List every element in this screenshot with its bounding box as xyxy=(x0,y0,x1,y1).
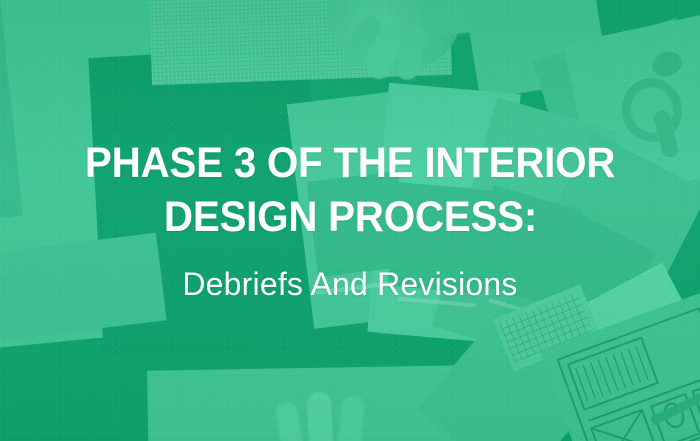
headline-line-2: DESIGN PROCESS: xyxy=(163,191,536,243)
blog-header-banner: PHASE 3 OF THE INTERIOR DESIGN PROCESS: … xyxy=(0,0,700,441)
subheadline: Debriefs And Revisions xyxy=(182,265,517,303)
headline-line-1: PHASE 3 OF THE INTERIOR xyxy=(85,137,615,189)
banner-text-block: PHASE 3 OF THE INTERIOR DESIGN PROCESS: … xyxy=(0,0,700,441)
